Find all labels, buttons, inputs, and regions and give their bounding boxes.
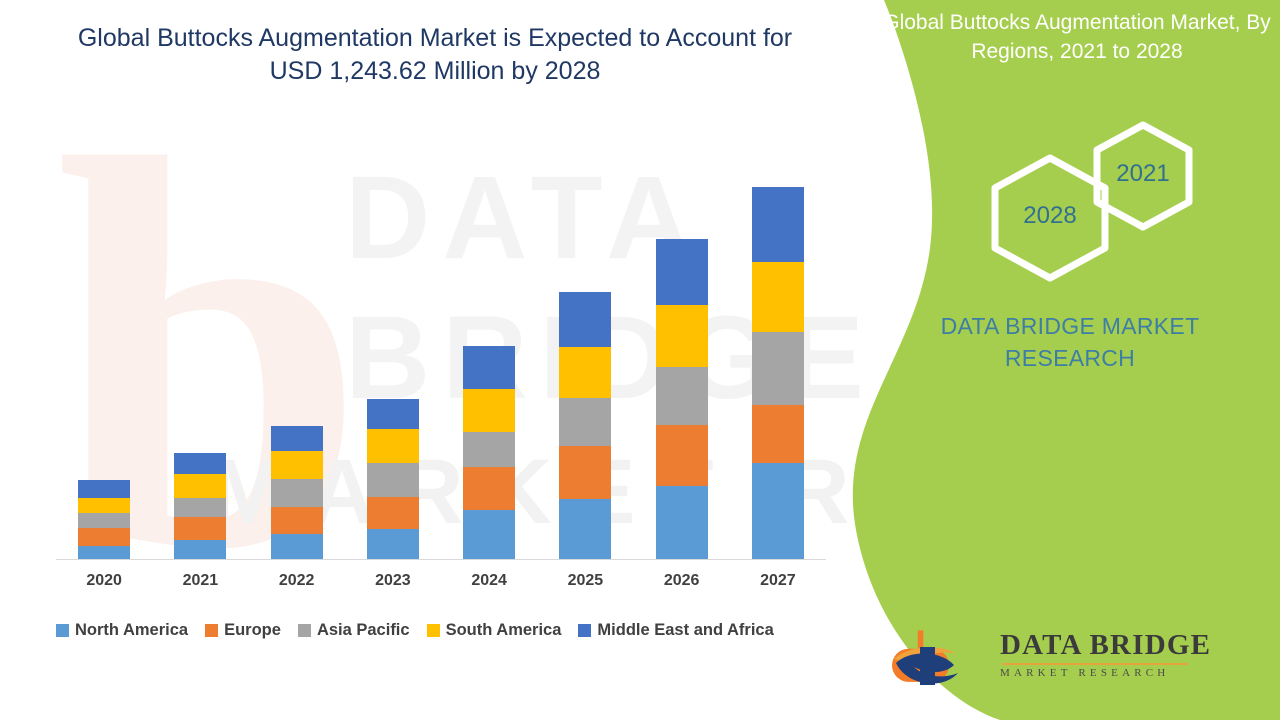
- segment-europe-2022: [271, 507, 323, 534]
- chart-legend: North AmericaEuropeAsia PacificSouth Ame…: [56, 617, 846, 643]
- hexagon-outline-icon: [1088, 120, 1198, 232]
- brand-name: DATA BRIDGE MARKET RESEARCH: [870, 310, 1270, 374]
- logo-wordmark: DATA BRIDGE MARKET RESEARCH: [1000, 629, 1211, 679]
- legend-label: South America: [446, 621, 562, 640]
- logo-sub-text: MARKET RESEARCH: [1000, 667, 1211, 679]
- segment-asia-pacific-2020: [78, 513, 130, 528]
- logo-main-text: DATA BRIDGE: [1000, 629, 1211, 662]
- bar-2022: [271, 426, 323, 559]
- legend-swatch-icon: [298, 624, 311, 637]
- x-axis-label-2020: 2020: [69, 572, 139, 590]
- segment-asia-pacific-2022: [271, 479, 323, 506]
- hexagon-2021: 2021: [1088, 120, 1198, 237]
- segment-north-america-2025: [559, 499, 611, 559]
- page-title: Global Buttocks Augmentation Market is E…: [70, 22, 800, 88]
- segment-middle-east-and-africa-2025: [559, 292, 611, 347]
- segment-north-america-2027: [752, 463, 804, 559]
- panel-heading: Global Buttocks Augmentation Market, By …: [882, 8, 1272, 66]
- hexagon-2028: 2028: [985, 152, 1115, 289]
- x-axis-label-2022: 2022: [262, 572, 332, 590]
- segment-south-america-2021: [174, 474, 226, 497]
- hexagon-outline-icon: [985, 152, 1115, 284]
- bar-2023: [367, 399, 419, 559]
- segment-north-america-2023: [367, 529, 419, 559]
- segment-middle-east-and-africa-2023: [367, 399, 419, 429]
- x-axis-label-2021: 2021: [165, 572, 235, 590]
- segment-europe-2025: [559, 446, 611, 498]
- legend-item-north-america[interactable]: North America: [56, 621, 188, 640]
- segment-asia-pacific-2021: [174, 498, 226, 517]
- segment-south-america-2025: [559, 347, 611, 397]
- segment-middle-east-and-africa-2020: [78, 480, 130, 497]
- legend-label: Europe: [224, 621, 281, 640]
- x-axis-label-2025: 2025: [550, 572, 620, 590]
- legend-swatch-icon: [56, 624, 69, 637]
- chart-plot-area: [56, 150, 826, 560]
- bar-2025: [559, 292, 611, 559]
- legend-item-europe[interactable]: Europe: [205, 621, 281, 640]
- legend-item-south-america[interactable]: South America: [427, 621, 562, 640]
- segment-south-america-2023: [367, 429, 419, 463]
- legend-label: Asia Pacific: [317, 621, 410, 640]
- x-axis-label-2027: 2027: [743, 572, 813, 590]
- legend-item-middle-east-and-africa[interactable]: Middle East and Africa: [578, 621, 773, 640]
- legend-swatch-icon: [205, 624, 218, 637]
- x-axis-label-2026: 2026: [647, 572, 717, 590]
- legend-item-asia-pacific[interactable]: Asia Pacific: [298, 621, 410, 640]
- legend-label: Middle East and Africa: [597, 621, 773, 640]
- segment-europe-2021: [174, 517, 226, 540]
- segment-europe-2026: [656, 425, 708, 486]
- segment-europe-2024: [463, 467, 515, 509]
- x-axis-line: [56, 559, 826, 560]
- x-axis-label-2024: 2024: [454, 572, 524, 590]
- segment-middle-east-and-africa-2027: [752, 187, 804, 262]
- data-bridge-mark-icon: [890, 625, 990, 691]
- legend-label: North America: [75, 621, 188, 640]
- segment-south-america-2027: [752, 262, 804, 333]
- segment-south-america-2026: [656, 305, 708, 368]
- segment-asia-pacific-2026: [656, 367, 708, 424]
- bar-2024: [463, 346, 515, 559]
- stacked-bar-chart: [56, 150, 826, 560]
- segment-north-america-2022: [271, 534, 323, 559]
- segment-asia-pacific-2025: [559, 398, 611, 446]
- bar-2027: [752, 187, 804, 559]
- hexagon-badges: 2028 2021: [860, 120, 1280, 300]
- segment-middle-east-and-africa-2026: [656, 239, 708, 305]
- legend-swatch-icon: [578, 624, 591, 637]
- segment-asia-pacific-2027: [752, 332, 804, 405]
- bar-2021: [174, 453, 226, 559]
- segment-asia-pacific-2024: [463, 432, 515, 467]
- segment-asia-pacific-2023: [367, 463, 419, 496]
- segment-europe-2027: [752, 405, 804, 463]
- bar-2020: [78, 480, 130, 559]
- hexagon-2021-label: 2021: [1088, 160, 1198, 188]
- segment-north-america-2026: [656, 486, 708, 559]
- segment-north-america-2021: [174, 540, 226, 559]
- segment-middle-east-and-africa-2022: [271, 426, 323, 451]
- segment-middle-east-and-africa-2021: [174, 453, 226, 474]
- segment-north-america-2020: [78, 546, 130, 559]
- segment-middle-east-and-africa-2024: [463, 346, 515, 388]
- segment-north-america-2024: [463, 510, 515, 559]
- hexagon-2028-label: 2028: [985, 202, 1115, 230]
- company-logo: DATA BRIDGE MARKET RESEARCH: [890, 625, 1250, 695]
- logo-divider: [1002, 663, 1188, 665]
- segment-south-america-2022: [271, 451, 323, 479]
- x-axis-label-2023: 2023: [358, 572, 428, 590]
- segment-europe-2020: [78, 528, 130, 546]
- brand-name-line2: RESEARCH: [870, 342, 1270, 374]
- infographic-canvas: b DATA BRIDGE MARKET RESEARCH Global But…: [0, 0, 1280, 720]
- segment-south-america-2020: [78, 498, 130, 513]
- segment-south-america-2024: [463, 389, 515, 432]
- bar-2026: [656, 239, 708, 559]
- legend-swatch-icon: [427, 624, 440, 637]
- segment-europe-2023: [367, 497, 419, 529]
- brand-name-line1: DATA BRIDGE MARKET: [870, 310, 1270, 342]
- x-axis-labels: 20202021202220232024202520262027: [56, 572, 826, 600]
